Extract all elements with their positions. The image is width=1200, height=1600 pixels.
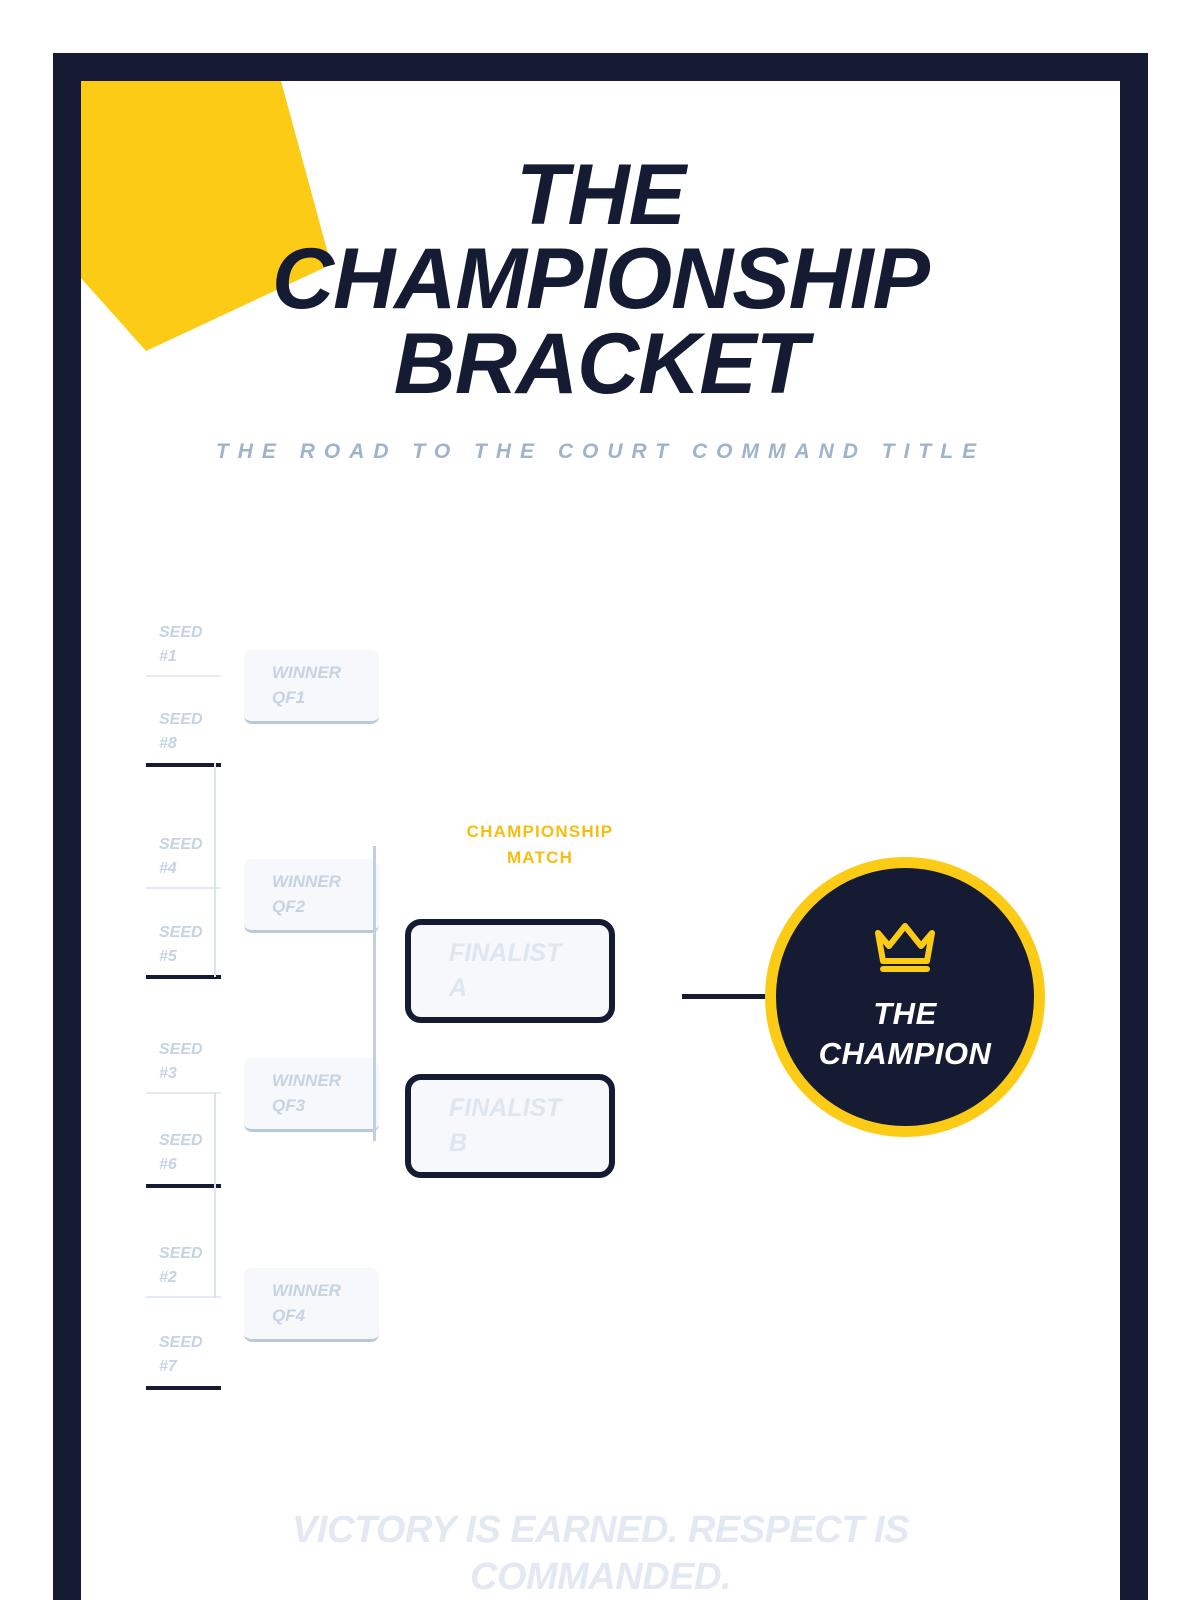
seed-label: SEED bbox=[159, 621, 233, 645]
bracket-tie-qf2-lower bbox=[214, 887, 216, 977]
seed-slot-6[interactable]: SEED #6 bbox=[159, 1129, 233, 1176]
seed-rule-5 bbox=[146, 1092, 221, 1094]
seed-slot-1[interactable]: SEED #1 bbox=[159, 621, 233, 668]
seed-label: SEED bbox=[159, 1242, 233, 1266]
seed-slot-3[interactable]: SEED #3 bbox=[159, 1038, 233, 1085]
match-label-line-1: CHAMPIONSHIP bbox=[410, 819, 670, 845]
championship-bracket-poster: THE CHAMPIONSHIP BRACKET THE ROAD TO THE… bbox=[0, 0, 1200, 1600]
seed-rule-8 bbox=[146, 1386, 221, 1390]
champion-badge[interactable]: THE CHAMPION bbox=[765, 857, 1045, 1137]
champion-label: THE CHAMPION bbox=[805, 994, 1006, 1073]
footer-line-1: VICTORY IS EARNED. RESPECT IS bbox=[151, 1507, 1050, 1553]
seed-rule-2 bbox=[146, 763, 221, 767]
page-title: THE CHAMPIONSHIP BRACKET bbox=[81, 153, 1120, 406]
seed-number: #7 bbox=[159, 1355, 233, 1379]
finalist-line-1: FINALIST bbox=[449, 1091, 609, 1127]
winner-line-1: WINNER bbox=[272, 661, 379, 686]
seed-label: SEED bbox=[159, 833, 233, 857]
seed-rule-3 bbox=[146, 887, 221, 889]
seed-label: SEED bbox=[159, 1331, 233, 1355]
seed-number: #1 bbox=[159, 645, 233, 669]
seed-slot-7[interactable]: SEED #7 bbox=[159, 1331, 233, 1378]
winner-box-qf1[interactable]: WINNER QF1 bbox=[244, 650, 379, 724]
title-line-1: THE bbox=[121, 153, 1080, 237]
winner-line-2: QF2 bbox=[272, 895, 379, 920]
winner-line-2: QF4 bbox=[272, 1304, 379, 1329]
poster-footer: VICTORY IS EARNED. RESPECT IS COMMANDED. bbox=[81, 1507, 1120, 1600]
seed-number: #5 bbox=[159, 945, 233, 969]
winner-box-qf4[interactable]: WINNER QF4 bbox=[244, 1268, 379, 1342]
winner-line-1: WINNER bbox=[272, 870, 379, 895]
seed-number: #2 bbox=[159, 1266, 233, 1290]
champion-line-2: CHAMPION bbox=[819, 1034, 992, 1074]
seed-rule-7 bbox=[146, 1296, 221, 1298]
semifinal-connector bbox=[373, 846, 376, 1141]
seed-label: SEED bbox=[159, 921, 233, 945]
title-line-3: BRACKET bbox=[121, 322, 1080, 406]
finalist-line-1: FINALIST bbox=[449, 936, 609, 972]
finalist-box-b[interactable]: FINALIST B bbox=[405, 1074, 615, 1178]
winner-line-1: WINNER bbox=[272, 1069, 379, 1094]
poster-header: THE CHAMPIONSHIP BRACKET THE ROAD TO THE… bbox=[81, 153, 1120, 464]
seed-rule-6 bbox=[146, 1184, 221, 1188]
seed-slot-8[interactable]: SEED #8 bbox=[159, 708, 233, 755]
title-line-2: CHAMPIONSHIP bbox=[121, 237, 1080, 321]
winner-box-qf3[interactable]: WINNER QF3 bbox=[244, 1058, 379, 1132]
winner-line-2: QF3 bbox=[272, 1094, 379, 1119]
bracket-tie-qf3-upper bbox=[214, 1092, 216, 1186]
seed-number: #4 bbox=[159, 857, 233, 881]
seed-rule-4 bbox=[146, 975, 221, 979]
seed-label: SEED bbox=[159, 1129, 233, 1153]
seed-label: SEED bbox=[159, 1038, 233, 1062]
seed-number: #3 bbox=[159, 1062, 233, 1086]
champion-connector-line bbox=[682, 994, 767, 999]
seed-slot-5[interactable]: SEED #5 bbox=[159, 921, 233, 968]
winner-line-2: QF1 bbox=[272, 686, 379, 711]
winner-line-1: WINNER bbox=[272, 1279, 379, 1304]
seed-slot-4[interactable]: SEED #4 bbox=[159, 833, 233, 880]
winner-box-qf2[interactable]: WINNER QF2 bbox=[244, 859, 379, 933]
bracket-tie-qf3-qf4 bbox=[214, 1184, 216, 1298]
seed-slot-2[interactable]: SEED #2 bbox=[159, 1242, 233, 1289]
finalist-line-2: A bbox=[449, 971, 609, 1007]
footer-line-2: COMMANDED. bbox=[151, 1554, 1050, 1600]
seed-number: #6 bbox=[159, 1153, 233, 1177]
seed-number: #8 bbox=[159, 732, 233, 756]
poster-inner-canvas: THE CHAMPIONSHIP BRACKET THE ROAD TO THE… bbox=[81, 81, 1120, 1600]
bracket-tie-qf1-qf2 bbox=[214, 763, 216, 891]
page-subtitle: THE ROAD TO THE COURT COMMAND TITLE bbox=[81, 440, 1120, 464]
finalist-line-2: B bbox=[449, 1126, 609, 1162]
match-label-line-2: MATCH bbox=[410, 845, 670, 871]
finalist-box-a[interactable]: FINALIST A bbox=[405, 919, 615, 1023]
champion-line-1: THE bbox=[819, 994, 992, 1034]
crown-icon bbox=[872, 921, 938, 978]
seed-rule-1 bbox=[146, 675, 221, 677]
championship-match-label: CHAMPIONSHIP MATCH bbox=[410, 819, 670, 872]
seed-label: SEED bbox=[159, 708, 233, 732]
